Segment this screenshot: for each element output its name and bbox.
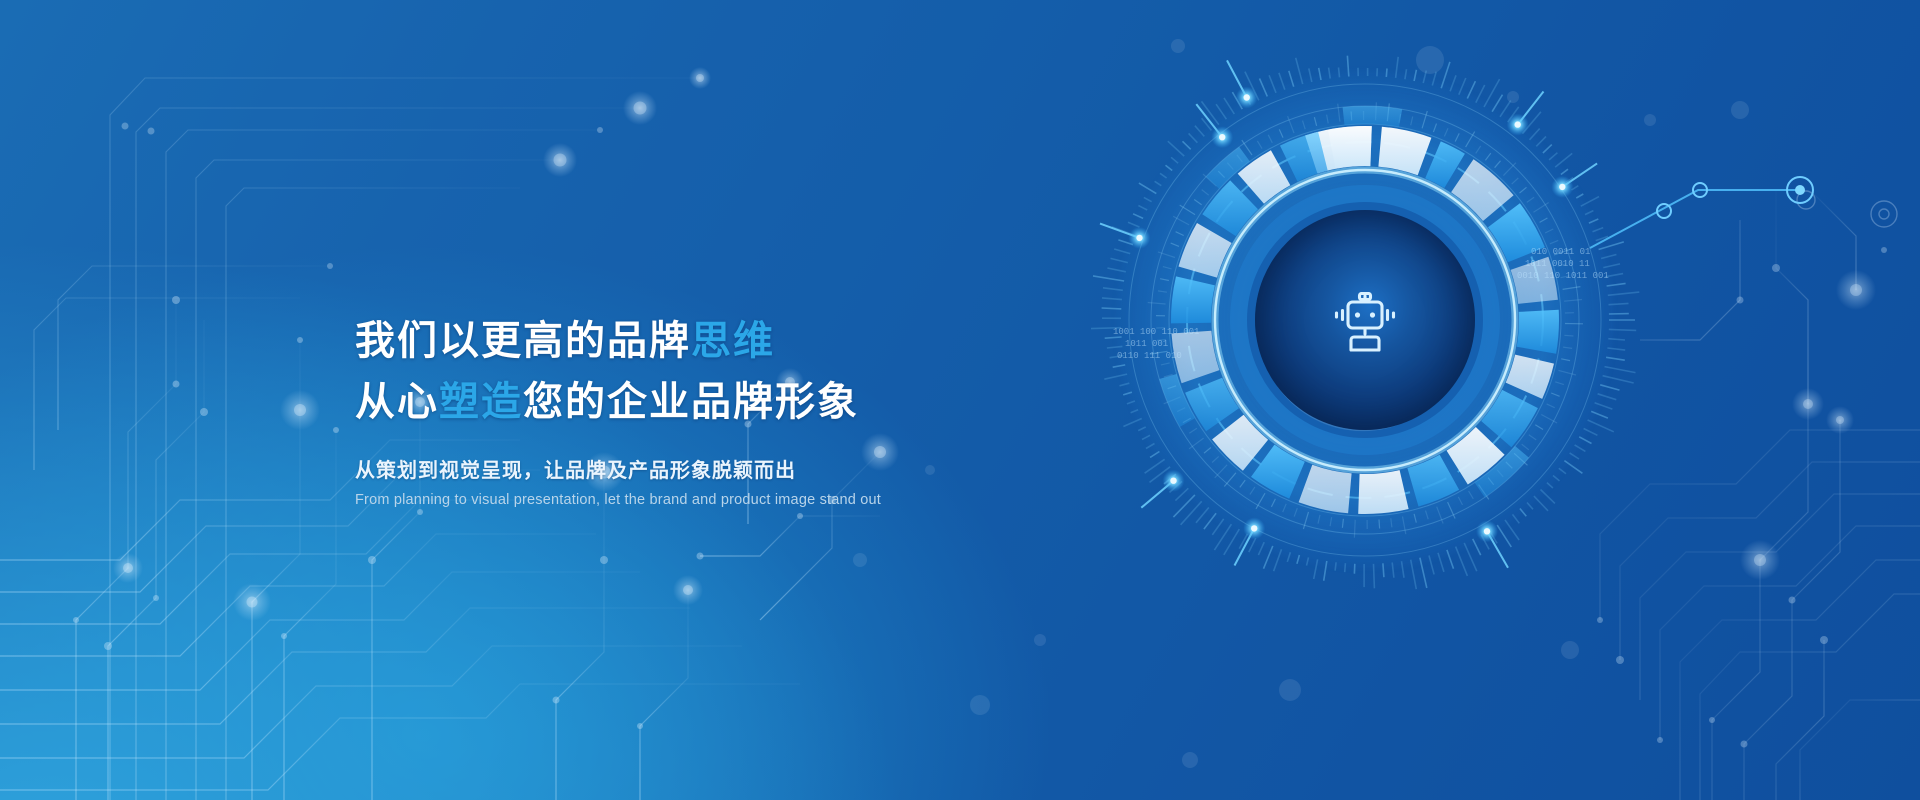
hud-binary-text: 1001 100 110 001 1011 001 0110 111 010 0… xyxy=(1085,40,1645,600)
binary-right-1: 010 0011 01 xyxy=(1531,247,1590,257)
headline-line-2: 从心塑造您的企业品牌形象 xyxy=(355,379,1115,426)
headline-line-1-highlight: 思维 xyxy=(691,319,775,363)
target-node-core xyxy=(1795,185,1805,195)
headline-line-1-text: 我们以更高的品牌 xyxy=(355,319,691,363)
headline-line-2-prefix: 从心 xyxy=(355,380,439,424)
headline-line-2-suffix: 您的企业品牌形象 xyxy=(523,380,859,424)
target-node-outer xyxy=(1787,177,1813,203)
hud-tech-graphic: 1001 100 110 001 1011 001 0110 111 010 0… xyxy=(1085,40,1645,600)
connector-node-small-2 xyxy=(1657,204,1671,218)
headline-line-1: 我们以更高的品牌思维 xyxy=(355,318,1115,365)
subtitle-english: From planning to visual presentation, le… xyxy=(355,492,1115,508)
subtitle-chinese: 从策划到视觉呈现，让品牌及产品形象脱颖而出 xyxy=(355,454,1115,483)
hero-banner: 1001 100 110 001 1011 001 0110 111 010 0… xyxy=(0,0,1920,800)
binary-left-2: 1011 001 xyxy=(1125,339,1168,349)
hero-copy: 我们以更高的品牌思维 从心塑造您的企业品牌形象 从策划到视觉呈现，让品牌及产品形… xyxy=(355,318,1115,508)
binary-left-3: 0110 111 010 xyxy=(1117,351,1182,361)
headline-line-2-highlight: 塑造 xyxy=(439,380,523,424)
binary-left-1: 1001 100 110 001 xyxy=(1113,327,1199,337)
binary-right-3: 0010 110 1011 001 xyxy=(1517,271,1609,281)
connector-node-small xyxy=(1693,183,1707,197)
binary-right-2: 1011 0010 11 xyxy=(1525,259,1590,269)
